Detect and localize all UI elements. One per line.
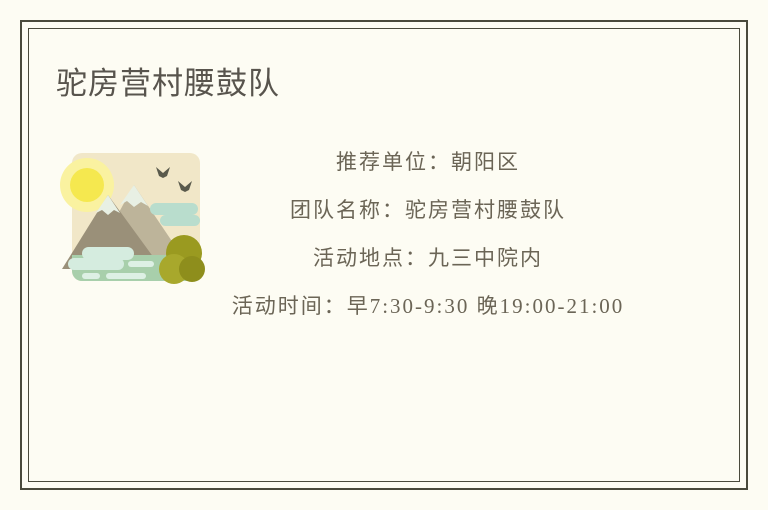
detail-line-activity-time: 活动时间：早7:30-9:30 晚19:00-21:00 xyxy=(224,282,632,330)
detail-line-recommending-unit: 推荐单位：朝阳区 xyxy=(224,138,632,186)
detail-line-team-name: 团队名称：驼房营村腰鼓队 xyxy=(224,186,632,234)
card-content: 驼房营村腰鼓队 xyxy=(28,28,740,482)
detail-text-block: 推荐单位：朝阳区 团队名称：驼房营村腰鼓队 活动地点：九三中院内 活动时间：早7… xyxy=(224,138,632,330)
landscape-placeholder-icon xyxy=(56,145,208,297)
page-root: 驼房营村腰鼓队 xyxy=(0,0,768,510)
page-title: 驼房营村腰鼓队 xyxy=(56,64,280,104)
detail-body: 推荐单位：朝阳区 团队名称：驼房营村腰鼓队 活动地点：九三中院内 活动时间：早7… xyxy=(28,138,740,438)
detail-line-activity-location: 活动地点：九三中院内 xyxy=(224,234,632,282)
thumbnail-image xyxy=(56,145,208,297)
